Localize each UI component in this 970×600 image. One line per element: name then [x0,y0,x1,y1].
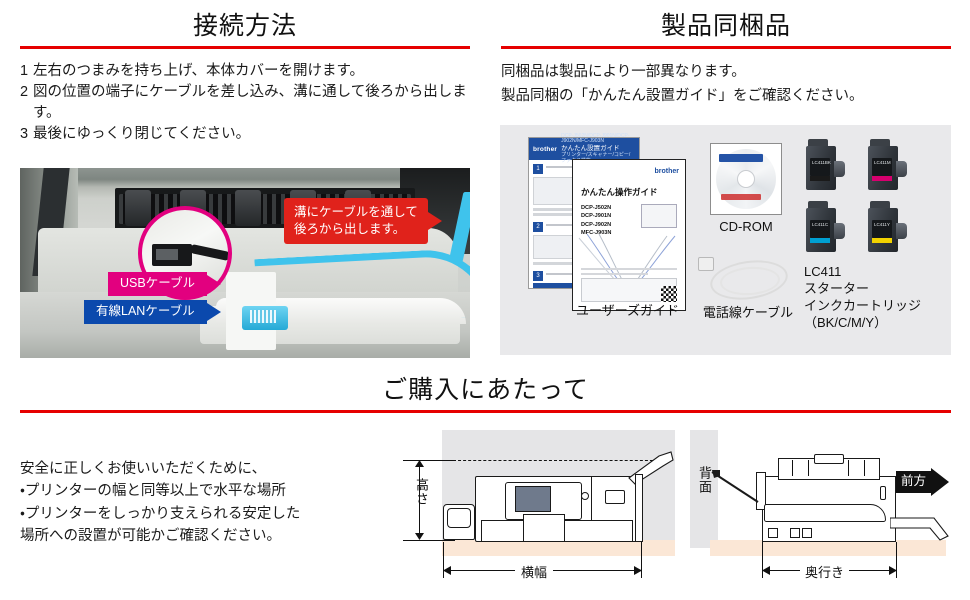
cartridge-color-stripe [872,176,892,181]
front-direction-label: 前方 [896,471,931,493]
photo-roller [235,190,261,226]
cartridge-code: LC411Y [874,222,890,227]
front-direction-badge: 前方 [896,468,949,496]
placeholder-line [581,273,648,275]
step-badge: 3 [533,271,543,281]
feed-tray-rib [792,460,793,476]
phone-line-cable [696,255,796,307]
feed-tray-rib [848,460,849,476]
cartridge-nozzle [896,161,907,177]
bundle-caption-phone-cable: 電話線ケーブル [678,305,818,322]
cartridge-nozzle [834,223,845,239]
callout-usb-cable: USBケーブル [108,272,221,296]
printer-foot [802,528,812,538]
usb-connector [152,244,192,266]
placeholder-line [581,268,677,270]
printer-handset-cradle [447,508,471,528]
ink-cartridge-yellow: LC411Y [868,201,908,255]
usb-cord [190,244,231,261]
printer-power-button [581,492,589,500]
callout-lan-label: 有線LANケーブル [84,300,207,324]
feed-tray-rib [864,460,865,476]
cd-label-text-band [721,194,761,200]
printer-handset-side [764,504,886,522]
cartridge-body: LC411Y [868,208,898,252]
step-number: 1 [20,61,33,82]
section-connection-title: 接続方法 [20,14,470,39]
bundle-caption-ink-cartridges: LC411 スターター インクカートリッジ （BK/C/M/Y） [804,263,954,332]
cd-label-band [719,154,763,162]
list-item: 2 図の位置の端子にケーブルを差し込み、溝に通して後ろから出します。 [20,82,470,124]
feed-tray-rib [808,460,809,476]
printer-foot [768,528,778,538]
qr-code-icon [661,286,677,302]
printer-side-button [880,486,886,500]
step-badge: 1 [533,164,543,174]
cartridge-color-stripe [810,176,830,181]
ink-cartridge-black: LC411BK [806,139,846,193]
label-depth: 奥行き [800,562,849,581]
setup-guide-header: brother DCP-J502N/DCP-J901N/DCP-J902N/MF… [529,138,639,160]
photo-lan-plug [242,306,288,330]
printer-foot [790,528,800,538]
user-guide-booklet: brother かんたん操作ガイド DCP-J502N DCP-J901N DC… [572,159,686,311]
label-height: 高さ [412,478,431,506]
printer-lcd-screen [515,486,551,512]
height-bottom-tick [403,540,455,541]
printer-front-tray-icon [890,514,952,548]
printer-right-arm [635,474,643,542]
cd-rom-case [710,143,782,215]
callout-usb-label: USBケーブル [108,272,207,296]
ink-cartridge-magenta: LC411M [868,139,908,193]
step-number: 3 [20,124,33,145]
section-purchase-rule [20,410,951,413]
callout-lan-arrow-icon [207,303,221,321]
cartridge-nozzle [896,223,907,239]
printer-output-tray [523,514,565,542]
brother-logo-icon: brother [533,146,557,153]
brochure-page: 接続方法 1 左右のつまみを持ち上げ、本体カバーを開けます。 2 図の位置の端子… [0,0,970,600]
callout-groove: 溝にケーブルを通して 後ろから出します。 [284,198,442,244]
ink-cartridge-cyan: LC411C [806,201,846,255]
cartridge-code: LC411M [874,160,891,165]
section-connection: 接続方法 1 左右のつまみを持ち上げ、本体カバーを開けます。 2 図の位置の端子… [20,14,470,146]
step-text: 左右のつまみを持ち上げ、本体カバーを開けます。 [33,61,470,82]
section-bundle-title: 製品同梱品 [501,14,951,39]
cartridge-code: LC411C [812,222,828,227]
diagram-side-view: 背面 [690,430,970,595]
section-purchase-title: ご購入にあたって [20,378,951,403]
cartridge-body: LC411BK [806,146,836,190]
brother-logo-icon: brother [655,168,680,175]
front-direction-arrow-icon [931,468,949,496]
printer-right-latch [605,490,625,504]
callout-groove-arrow-icon [428,212,442,230]
rj11-plug-icon [698,257,714,271]
step-text: 図の位置の端子にケーブルを差し込み、溝に通して後ろから出します。 [33,82,470,124]
section-purchase: ご購入にあたって [20,378,951,413]
bundle-caption-cd-rom: CD-ROM [700,219,792,236]
step-badge: 2 [533,222,543,232]
connection-steps-list: 1 左右のつまみを持ち上げ、本体カバーを開けます。 2 図の位置の端子にケーブル… [20,61,470,146]
printer-illustration-icon [641,204,677,228]
user-guide-title: かんたん操作ガイド [581,186,658,198]
cartridge-code: LC411BK [812,160,831,165]
cartridge-body: LC411C [806,208,836,252]
printer-feed-guide [814,454,844,464]
bundle-intro-line1: 同梱品は製品により一部異なります。 [501,61,951,83]
cartridge-body: LC411M [868,146,898,190]
step-number: 2 [20,82,33,103]
printer-rear-arm-icon [710,468,770,508]
label-width: 横幅 [515,562,553,581]
printer-cable-photo: 溝にケーブルを通して 後ろから出します。 USBケーブル 有線LANケーブル [20,168,470,358]
height-top-tick [403,460,455,461]
callout-groove-label: 溝にケーブルを通して 後ろから出します。 [284,198,428,244]
setup-guide-models: DCP-J502N/DCP-J901N/DCP-J902N/MFC-J903N [561,134,635,146]
callout-lan-cable: 有線LANケーブル [84,300,221,324]
section-connection-rule [20,46,470,49]
photo-roller [125,190,151,226]
callout-usb-arrow-icon [207,275,221,293]
purchase-body: 安全に正しくお使いいただくために、 ・プリンターの幅と同等以上で水平な場所 ・プ… [20,430,951,595]
list-item: 1 左右のつまみを持ち上げ、本体カバーを開けます。 [20,61,470,82]
section-bundle-rule [501,46,951,49]
step-text: 最後にゆっくり閉じてください。 [33,124,470,145]
diagram-front-view: 高さ 横幅 [395,430,675,595]
bundle-items-panel: brother DCP-J502N/DCP-J901N/DCP-J902N/MF… [500,125,951,355]
purchase-notes: 安全に正しくお使いいただくために、 ・プリンターの幅と同等以上で水平な場所 ・プ… [20,458,380,548]
section-bundle: 製品同梱品 同梱品は製品により一部異なります。 製品同梱の「かんたん設置ガイド」… [501,14,951,107]
cartridge-nozzle [834,161,845,177]
cartridge-color-stripe [872,238,892,243]
cartridge-color-stripe [810,238,830,243]
list-item: 3 最後にゆっくり閉じてください。 [20,124,470,145]
bundle-intro-line2: 製品同梱の「かんたん設置ガイド」をご確認ください。 [501,85,951,107]
